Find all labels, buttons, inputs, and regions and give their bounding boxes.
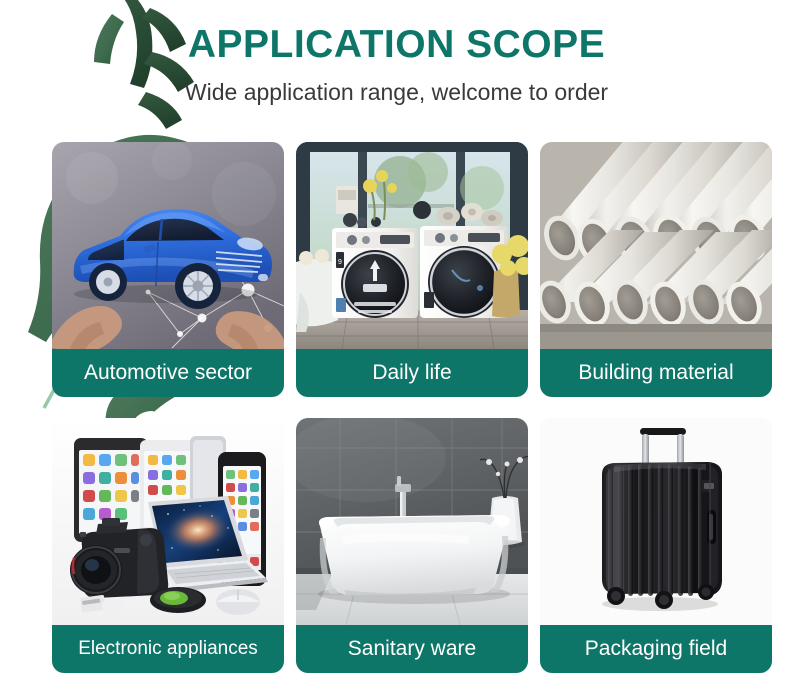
consumer-electronics-photo [52, 418, 284, 625]
card-automotive[interactable]: Automotive sector [52, 142, 284, 397]
blue-sedan-car-photo [52, 142, 284, 349]
caption-electronic-appliances: Electronic appliances [52, 625, 284, 673]
card-building-material[interactable]: Building material [540, 142, 772, 397]
caption-packaging-field: Packaging field [540, 625, 772, 673]
caption-label: Daily life [372, 361, 451, 385]
card-packaging-field[interactable]: Packaging field [540, 418, 772, 673]
caption-label: Sanitary ware [348, 637, 476, 661]
page-header: APPLICATION SCOPE Wide application range… [0, 22, 793, 106]
caption-daily-life: Daily life [296, 349, 528, 397]
bathtub-photo [296, 418, 528, 625]
caption-automotive: Automotive sector [52, 349, 284, 397]
caption-sanitary-ware: Sanitary ware [296, 625, 528, 673]
caption-label: Packaging field [585, 637, 727, 661]
black-suitcase-photo [540, 418, 772, 625]
caption-building-material: Building material [540, 349, 772, 397]
application-card-grid: Automotive sector [52, 142, 772, 673]
pvc-pipes-photo [540, 142, 772, 349]
page-title: APPLICATION SCOPE [0, 22, 793, 68]
caption-label: Electronic appliances [78, 637, 258, 661]
washing-machines-photo: 9 [296, 142, 528, 349]
card-electronic-appliances[interactable]: Electronic appliances [52, 418, 284, 673]
card-daily-life[interactable]: 9 [296, 142, 528, 397]
svg-text:9: 9 [338, 259, 342, 266]
caption-label: Automotive sector [84, 361, 252, 385]
page-subtitle: Wide application range, welcome to order [0, 78, 793, 106]
caption-label: Building material [578, 361, 733, 385]
application-scope-page: APPLICATION SCOPE Wide application range… [0, 0, 793, 694]
card-sanitary-ware[interactable]: Sanitary ware [296, 418, 528, 673]
